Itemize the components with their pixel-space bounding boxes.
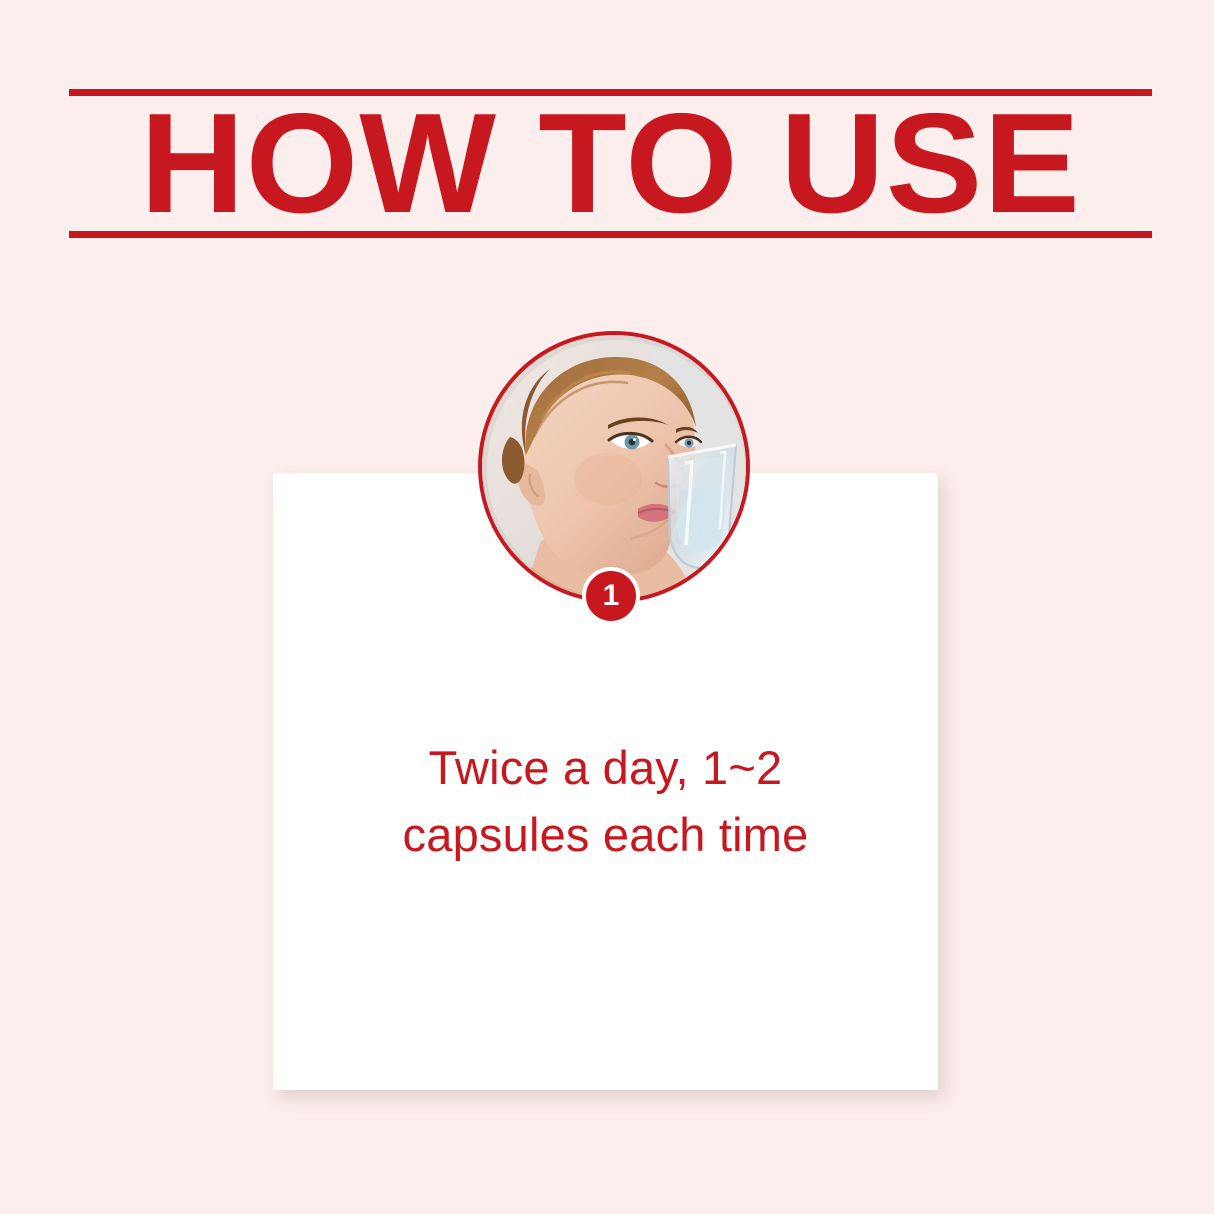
how-to-use-poster: HOW TO USE Twice a day, 1~2 capsules eac… xyxy=(0,0,1214,1214)
step-number-badge: 1 xyxy=(582,567,640,625)
woman-drinking-water-icon xyxy=(480,333,750,603)
instruction-text: Twice a day, 1~2 capsules each time xyxy=(273,735,938,868)
step-photo xyxy=(478,331,750,603)
header-rule-bottom-icon xyxy=(69,231,1152,238)
page-title: HOW TO USE xyxy=(58,96,1163,231)
photo-circle-frame xyxy=(478,331,750,603)
header-block: HOW TO USE xyxy=(69,89,1152,238)
